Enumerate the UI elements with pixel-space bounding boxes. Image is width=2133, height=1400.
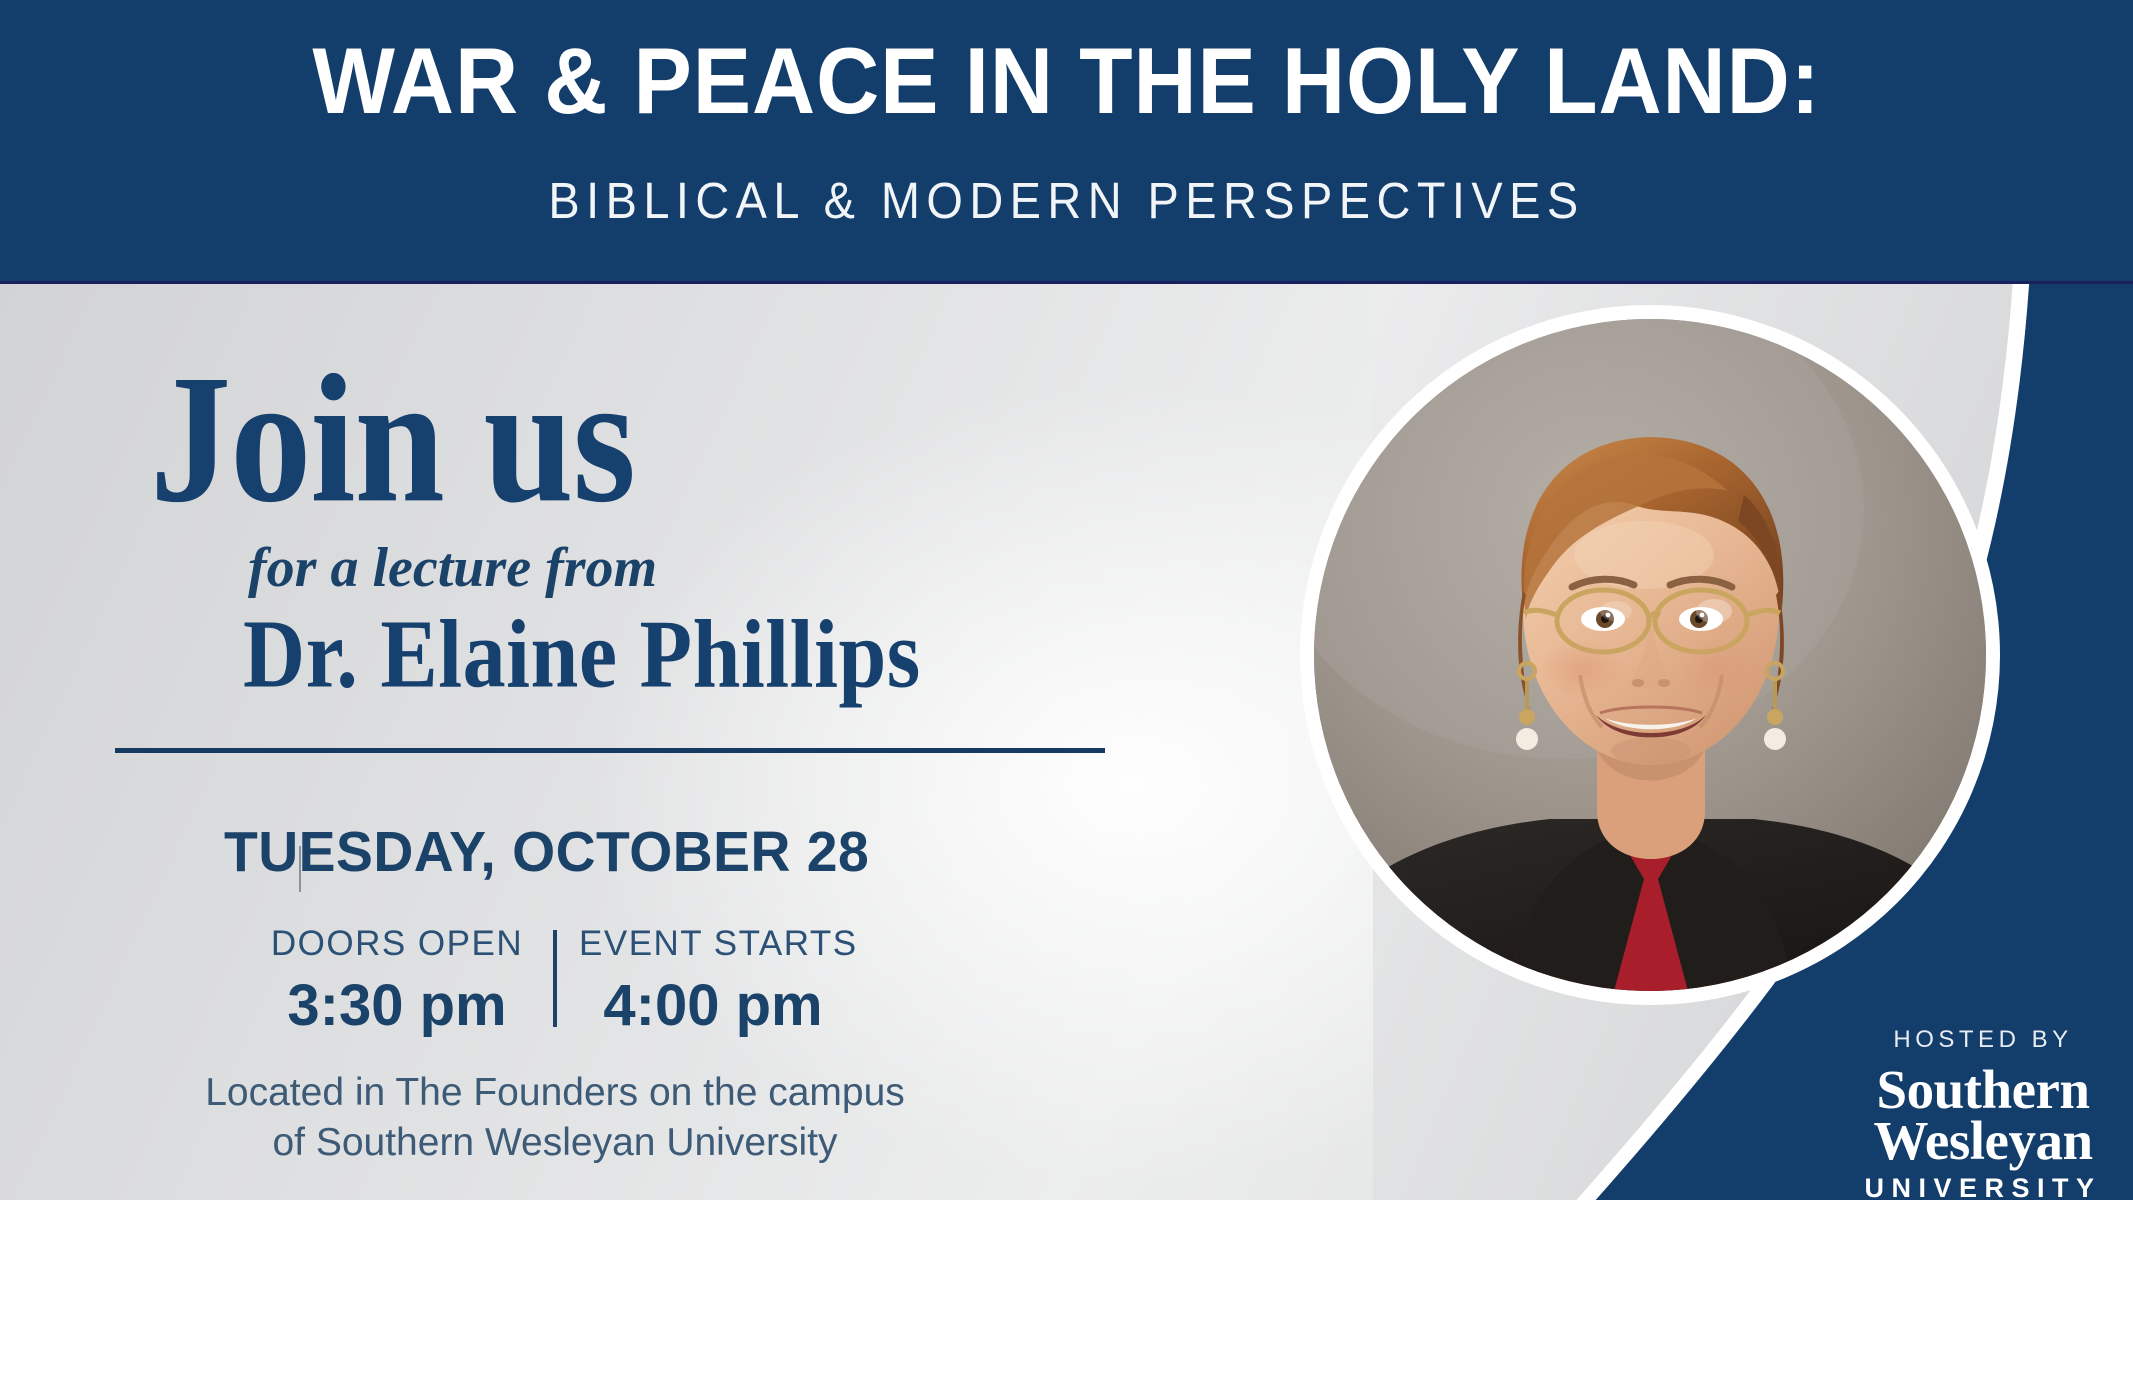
event-times-group: DOORS OPEN 3:30 pm EVENT STARTS 4:00 pm [225,926,885,1035]
text-caret-artifact [299,846,301,892]
doors-open-label: DOORS OPEN [263,926,531,961]
poster-banner: WAR & PEACE IN THE HOLY LAND: BIBLICAL &… [0,0,2133,283]
speaker-portrait [1300,305,2000,1005]
location-line-2: of Southern Wesleyan University [120,1118,990,1168]
event-poster: WAR & PEACE IN THE HOLY LAND: BIBLICAL &… [0,0,2133,1400]
event-starts-column: EVENT STARTS 4:00 pm [579,926,847,1035]
times-vertical-divider [553,930,557,1027]
event-date: TUESDAY, OCTOBER 28 [224,824,869,881]
speaker-name: Dr. Elaine Phillips [243,605,921,702]
portrait-photo [1314,319,1986,991]
logo-name-line-2: Wesleyan [1852,1115,2114,1166]
logo-name-line-1: Southern [1852,1064,2114,1115]
join-us-headline: Join us [150,348,635,532]
event-location: Located in The Founders on the campus of… [120,1068,990,1168]
hosted-by-label: HOSTED BY [1852,1028,2114,1052]
doors-open-value: 3:30 pm [263,977,531,1035]
lecture-prefix-text: for a lecture from [248,540,657,596]
location-line-1: Located in The Founders on the campus [120,1068,990,1118]
event-starts-label: EVENT STARTS [579,926,847,961]
doors-open-column: DOORS OPEN 3:30 pm [263,926,531,1035]
poster-title: WAR & PEACE IN THE HOLY LAND: [75,34,2059,128]
poster-subtitle: BIBLICAL & MODERN PERSPECTIVES [85,175,2047,226]
event-starts-value: 4:00 pm [579,977,847,1035]
logo-name-line-3: UNIVERSITY [1852,1175,2114,1202]
university-logo: HOSTED BY Southern Wesleyan UNIVERSITY [1852,1028,2114,1202]
section-divider-rule [115,748,1105,753]
